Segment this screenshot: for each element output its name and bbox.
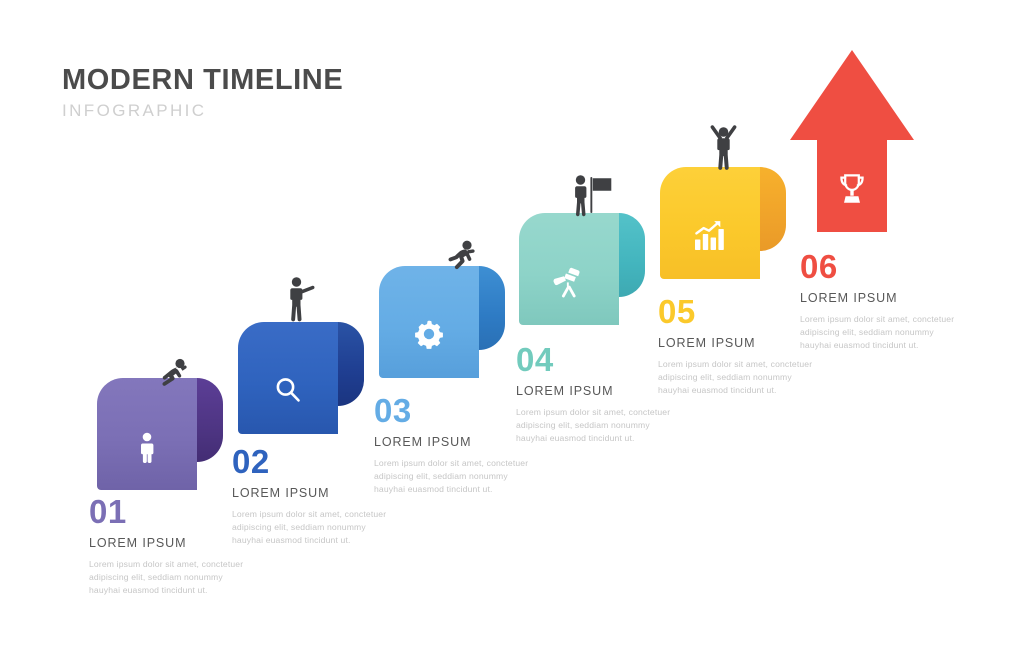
- step-block-06[interactable]: [787, 47, 917, 237]
- step-title-01: LOREM IPSUM: [89, 537, 249, 550]
- step-front-face-04: [519, 213, 619, 325]
- flag-person-figure: [570, 175, 622, 217]
- crawling-person-figure: [150, 358, 190, 386]
- step-body-02: Lorem ipsum dolor sit amet, conctetuer a…: [232, 508, 392, 547]
- timeline-diagram: 01 LOREM IPSUM Lorem ipsum dolor sit ame…: [0, 0, 1024, 649]
- step-title-02: LOREM IPSUM: [232, 487, 392, 500]
- step-title-06: LOREM IPSUM: [800, 292, 960, 305]
- step-body-06: Lorem ipsum dolor sit amet, conctetuer a…: [800, 313, 960, 352]
- step-number-05: 05: [658, 295, 818, 328]
- step-title-04: LOREM IPSUM: [516, 385, 676, 398]
- celebrating-person-figure: [706, 122, 742, 170]
- step-caption-03: 03 LOREM IPSUM Lorem ipsum dolor sit ame…: [374, 394, 534, 496]
- step-caption-02: 02 LOREM IPSUM Lorem ipsum dolor sit ame…: [232, 445, 392, 547]
- step-body-03: Lorem ipsum dolor sit amet, conctetuer a…: [374, 457, 534, 496]
- step-number-04: 04: [516, 343, 676, 376]
- step-body-01: Lorem ipsum dolor sit amet, conctetuer a…: [89, 558, 249, 597]
- step-number-03: 03: [374, 394, 534, 427]
- step-front-face-03: [379, 266, 479, 378]
- running-person-figure: [437, 240, 477, 272]
- step-number-02: 02: [232, 445, 392, 478]
- step-caption-01: 01 LOREM IPSUM Lorem ipsum dolor sit ame…: [89, 495, 249, 597]
- step-body-04: Lorem ipsum dolor sit amet, conctetuer a…: [516, 406, 676, 445]
- up-arrow-shape: [787, 47, 917, 232]
- step-body-05: Lorem ipsum dolor sit amet, conctetuer a…: [658, 358, 818, 397]
- step-title-03: LOREM IPSUM: [374, 436, 534, 449]
- step-number-06: 06: [800, 250, 960, 283]
- step-front-face-05: [660, 167, 760, 279]
- step-front-face-02: [238, 322, 338, 434]
- step-title-05: LOREM IPSUM: [658, 337, 818, 350]
- step-caption-06: 06 LOREM IPSUM Lorem ipsum dolor sit ame…: [800, 250, 960, 352]
- step-caption-04: 04 LOREM IPSUM Lorem ipsum dolor sit ame…: [516, 343, 676, 445]
- step-front-face-01: [97, 378, 197, 490]
- step-number-01: 01: [89, 495, 249, 528]
- pointing-person-figure: [286, 277, 318, 323]
- step-caption-05: 05 LOREM IPSUM Lorem ipsum dolor sit ame…: [658, 295, 818, 397]
